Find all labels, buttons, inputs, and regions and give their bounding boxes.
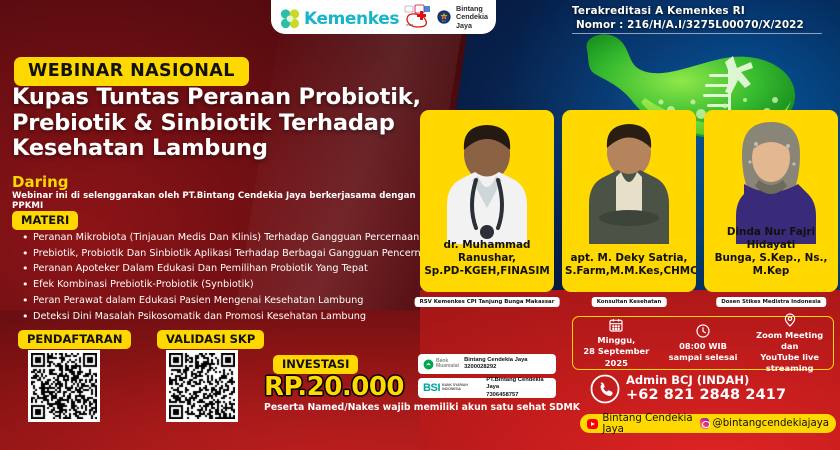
accreditation-underline bbox=[572, 33, 822, 34]
event-time-block: 08:00 WIB sampai selesai bbox=[660, 323, 747, 363]
list-item: Peranan Mikrobiota (Tinjauan Medis Dan K… bbox=[22, 230, 442, 246]
bcj-label-line2: Cendekia Jaya bbox=[456, 13, 488, 30]
ppkmi-logo: PPKMI bbox=[404, 4, 432, 30]
list-item: Efek Kombinasi Prebiotik-Probiotik (Synb… bbox=[22, 277, 442, 293]
webinar-nasional-badge: WEBINAR NASIONAL bbox=[14, 57, 249, 86]
accreditation-block: Terakreditasi A Kemenkes RI Nomor : 216/… bbox=[572, 5, 834, 34]
avatar bbox=[420, 110, 554, 244]
speaker-affiliation: Dosen Stikes Medistra Indonesia bbox=[716, 297, 826, 307]
kemenkes-logo: Kemenkes bbox=[279, 8, 399, 30]
speaker-name-line2: S.Farm,M.M.Kes,CHMC bbox=[565, 265, 693, 278]
speaker-name-line2: Sp.PD-KGEH,FINASIM bbox=[423, 265, 551, 278]
muamalat-label: BankMuamalat bbox=[436, 359, 459, 370]
event-platform-line1: Zoom Meeting dan bbox=[746, 330, 833, 352]
event-date-line1: Minggu, bbox=[573, 335, 660, 346]
speaker-name: dr. Muhammad Ranushar, Sp.PD-KGEH,FINASI… bbox=[420, 239, 554, 292]
youtube-handle[interactable]: Bintang Cendekia Jaya bbox=[602, 413, 695, 435]
location-pin-icon bbox=[782, 312, 798, 328]
speaker-name-line1: Dinda Nur Fajri Hidayati bbox=[707, 226, 835, 252]
title-line-2: Prebiotik & Sinbiotik Terhadap bbox=[12, 111, 432, 137]
validasi-skp-qr-code[interactable] bbox=[166, 350, 238, 422]
admin-contact-text: Admin BCJ (INDAH) +62 821 2848 2417 bbox=[626, 374, 786, 403]
speaker-affiliation: Konsultan Kesehatan bbox=[592, 297, 667, 307]
bank-account-number: 3200028292 bbox=[464, 364, 527, 371]
bcj-logo-icon: B C J bbox=[437, 4, 451, 30]
event-platform-block: Zoom Meeting dan YouTube live streaming bbox=[746, 312, 833, 375]
bcj-label: Bintang Cendekia Jaya bbox=[456, 5, 488, 30]
bank-account-number: 7306458757 bbox=[486, 392, 551, 399]
bank-holder: Bintang Cendekia Jaya bbox=[464, 357, 527, 364]
event-date-line2: 28 September 2025 bbox=[573, 346, 660, 368]
instagram-icon[interactable] bbox=[700, 418, 709, 429]
list-item: Prebiotik, Probiotik Dan Sinbiotik Aplik… bbox=[22, 246, 442, 262]
speaker-affiliation: RSV Kemenkes CPI Tanjung Bunga Makassar bbox=[415, 297, 560, 307]
kemenkes-label: Kemenkes bbox=[304, 9, 399, 29]
validasi-skp-badge: VALIDASI SKP bbox=[157, 330, 264, 349]
list-item: Peranan Apoteker Dalam Edukasi Dan Pemil… bbox=[22, 261, 442, 277]
logo-header-pill: Kemenkes PPKMI B C J Bintang Cendekia Ja… bbox=[271, 0, 496, 34]
avatar bbox=[562, 110, 696, 244]
event-platform-line2: YouTube live streaming bbox=[746, 352, 833, 374]
admin-contact-row: Admin BCJ (INDAH) +62 821 2848 2417 bbox=[590, 374, 836, 404]
bsi-sublabel: BANK SYARIAH INDONESIA bbox=[442, 384, 481, 391]
speaker-name: Dinda Nur Fajri Hidayati Bunga, S.Kep., … bbox=[704, 226, 838, 292]
pendaftaran-badge: PENDAFTARAN bbox=[18, 330, 131, 349]
event-details-box: Minggu, 28 September 2025 08:00 WIB samp… bbox=[572, 316, 834, 370]
admin-label: Admin BCJ (INDAH) bbox=[626, 374, 786, 387]
title-line-3: Kesehatan Lambung bbox=[12, 136, 432, 162]
avatar bbox=[704, 110, 838, 244]
materi-badge: MATERI bbox=[12, 211, 78, 230]
kemenkes-flower-icon bbox=[279, 8, 301, 30]
event-mode-label: Daring bbox=[12, 173, 69, 191]
speaker-card: apt. M. Deky Satria, S.Farm,M.M.Kes,CHMC… bbox=[562, 110, 696, 300]
event-time-line2: sampai selesai bbox=[660, 352, 747, 363]
bank-holder: PT.Bintang Cendekia Jaya bbox=[486, 377, 551, 391]
bank-row-bsi: BSI BANK SYARIAH INDONESIA PT.Bintang Ce… bbox=[418, 378, 556, 398]
list-item: Deteksi Dini Masalah Psikosomatik dan Pr… bbox=[22, 309, 442, 325]
page-title: Kupas Tuntas Peranan Probiotik, Prebioti… bbox=[12, 85, 432, 162]
list-item: Peran Perawat dalam Edukasi Pasien Menge… bbox=[22, 293, 442, 309]
svg-text:PPKMI: PPKMI bbox=[406, 24, 414, 27]
social-media-bar: Bintang Cendekia Jaya @bintangcendekiaja… bbox=[580, 414, 836, 433]
organizer-text: Webinar ini di selenggarakan oleh PT.Bin… bbox=[12, 191, 424, 211]
speaker-name-line1: dr. Muhammad Ranushar, bbox=[423, 239, 551, 265]
speaker-card: Dinda Nur Fajri Hidayati Bunga, S.Kep., … bbox=[704, 110, 838, 300]
speaker-name: apt. M. Deky Satria, S.Farm,M.M.Kes,CHMC bbox=[562, 252, 696, 292]
instagram-handle[interactable]: @bintangcendekiajaya bbox=[713, 418, 829, 429]
speaker-name-line1: apt. M. Deky Satria, bbox=[565, 252, 693, 265]
materi-list: Peranan Mikrobiota (Tinjauan Medis Dan K… bbox=[22, 230, 442, 324]
youtube-icon[interactable] bbox=[587, 419, 598, 429]
calendar-icon bbox=[608, 317, 624, 333]
pendaftaran-qr-code[interactable] bbox=[28, 350, 100, 422]
event-date-block: Minggu, 28 September 2025 bbox=[573, 317, 660, 369]
speaker-card-list: dr. Muhammad Ranushar, Sp.PD-KGEH,FINASI… bbox=[420, 110, 838, 300]
speaker-card: dr. Muhammad Ranushar, Sp.PD-KGEH,FINASI… bbox=[420, 110, 554, 300]
speaker-name-line2: Bunga, S.Kep., Ns., M.Kep bbox=[707, 252, 835, 278]
event-time-line1: 08:00 WIB bbox=[660, 341, 747, 352]
bsi-label: BSI bbox=[423, 382, 440, 394]
phone-icon bbox=[590, 374, 620, 404]
title-line-1: Kupas Tuntas Peranan Probiotik, bbox=[12, 85, 432, 111]
price-note: Peserta Named/Nakes wajib memiliki akun … bbox=[264, 402, 594, 413]
accreditation-line2: Nomor : 216/H/A.I/3275L00070/X/2022 bbox=[572, 19, 834, 33]
bsi-logo-icon: BSI BANK SYARIAH INDONESIA bbox=[423, 382, 481, 394]
accreditation-line1: Terakreditasi A Kemenkes RI bbox=[572, 5, 834, 19]
clock-icon bbox=[695, 323, 711, 339]
admin-phone-number: +62 821 2848 2417 bbox=[626, 387, 786, 403]
webinar-poster: Kemenkes PPKMI B C J Bintang Cendekia Ja… bbox=[0, 0, 840, 450]
price-amount: RP.20.000 bbox=[264, 372, 404, 402]
muamalat-logo-icon: BankMuamalat bbox=[423, 359, 459, 370]
bank-row-muamalat: BankMuamalat Bintang Cendekia Jaya 32000… bbox=[418, 354, 556, 374]
